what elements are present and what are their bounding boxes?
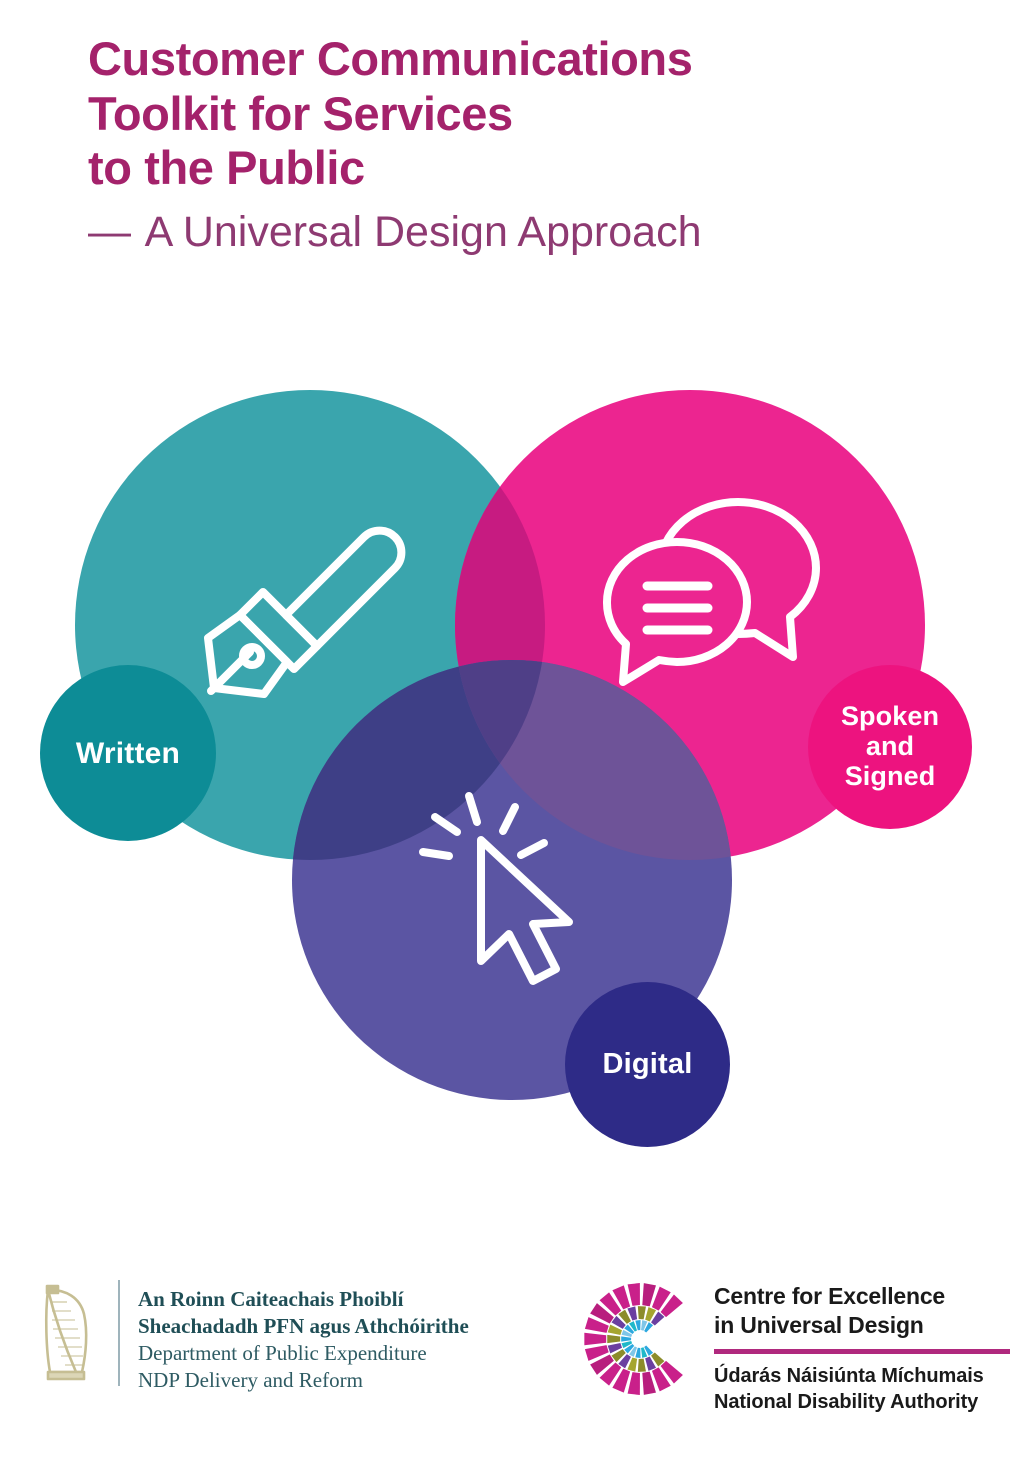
badge-written-label: Written [76, 737, 180, 770]
title-line-2: Toolkit for Services [88, 87, 948, 142]
ceud-sub-line-1: Údarás Náisiúnta Míchumais [714, 1363, 1010, 1389]
ceud-title-line-2: in Universal Design [714, 1311, 1010, 1340]
dper-divider [118, 1280, 120, 1386]
ceud-text: Centre for Excellence in Universal Desig… [714, 1276, 1010, 1415]
subtitle: — A Universal Design Approach [88, 208, 948, 257]
irish-harp-icon [36, 1280, 98, 1384]
dper-text: An Roinn Caiteachais Phoiblí Sheachadadh… [138, 1280, 469, 1394]
dper-english-line-2: NDP Delivery and Reform [138, 1367, 469, 1394]
badge-digital-label: Digital [602, 1049, 692, 1081]
subtitle-dash: — [88, 208, 135, 256]
ceud-radial-c-icon [584, 1276, 696, 1402]
subtitle-text: A Universal Design Approach [145, 208, 702, 256]
badge-digital: Digital [565, 982, 730, 1147]
badge-spoken-label-1: Spoken [841, 702, 939, 732]
badge-spoken-label-2: and [841, 732, 939, 762]
dper-english-line-1: Department of Public Expenditure [138, 1340, 469, 1367]
document-cover: Customer Communications Toolkit for Serv… [0, 0, 1020, 1459]
dper-irish-line-1: An Roinn Caiteachais Phoiblí [138, 1286, 469, 1313]
ceud-divider [714, 1349, 1010, 1354]
ceud-sub-line-2: National Disability Authority [714, 1389, 1010, 1415]
dper-logo-block: An Roinn Caiteachais Phoiblí Sheachadadh… [36, 1280, 469, 1394]
ceud-title-line-1: Centre for Excellence [714, 1282, 1010, 1311]
footer: An Roinn Caiteachais Phoiblí Sheachadadh… [0, 1272, 1020, 1432]
ceud-logo-block: Centre for Excellence in Universal Desig… [584, 1276, 1010, 1415]
badge-written: Written [40, 665, 216, 841]
page-title: Customer Communications Toolkit for Serv… [88, 32, 948, 257]
title-line-3: to the Public [88, 141, 948, 196]
badge-spoken-label-3: Signed [841, 762, 939, 792]
dper-irish-line-2: Sheachadadh PFN agus Athchóirithe [138, 1313, 469, 1340]
badge-spoken-and-signed: Spoken and Signed [808, 665, 972, 829]
title-line-1: Customer Communications [88, 32, 948, 87]
